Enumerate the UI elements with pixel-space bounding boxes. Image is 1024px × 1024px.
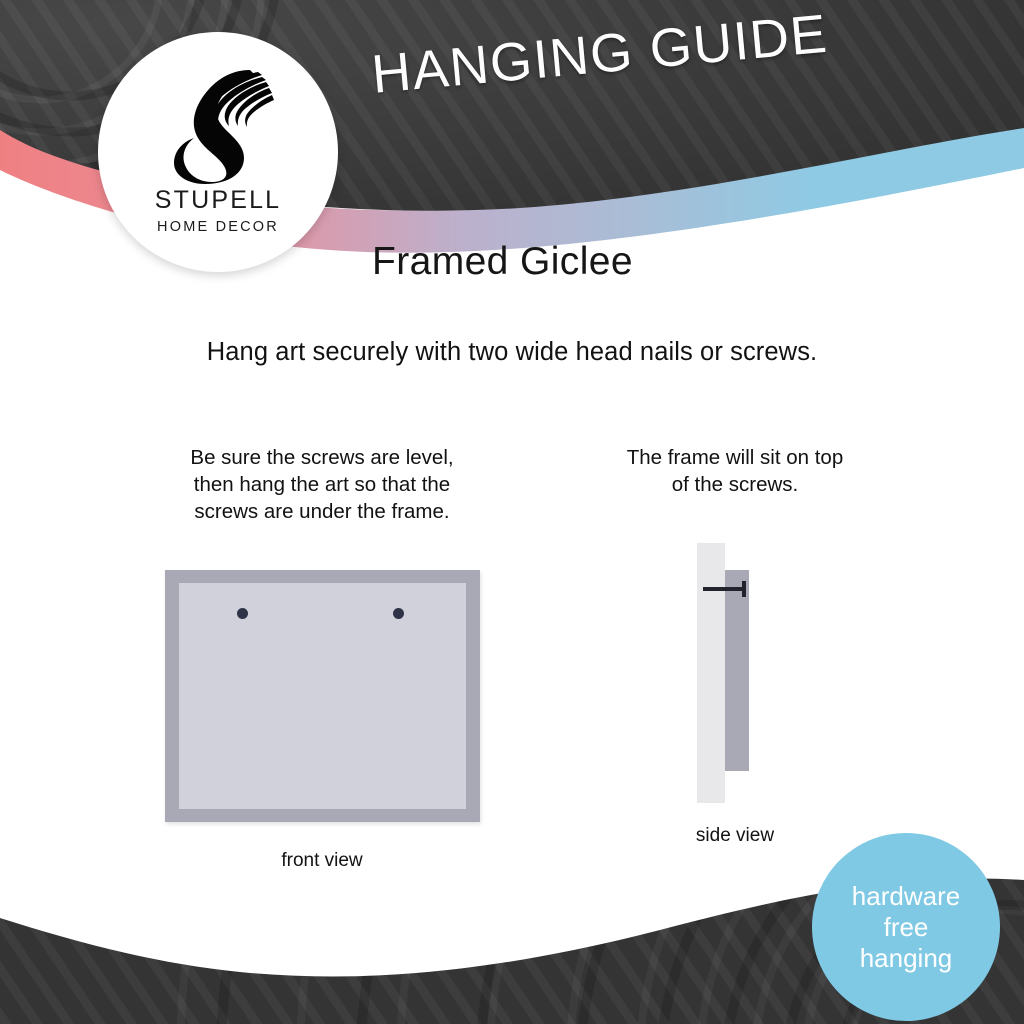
side-view-frame-diagram — [675, 543, 795, 803]
stupell-s-swoosh-logo-icon — [158, 56, 278, 184]
brand-tagline: HOME DECOR — [157, 220, 279, 235]
diagram-row: Be sure the screws are level, then hang … — [0, 444, 1024, 874]
brand-logo-badge: STUPELL HOME DECOR — [98, 32, 338, 272]
front-view-instruction-line: Be sure the screws are level, — [130, 444, 514, 471]
screw-head-icon — [742, 581, 746, 597]
screw-dot-left — [237, 608, 248, 619]
brand-name: STUPELL — [155, 188, 282, 213]
side-view-instruction-line: The frame will sit on top — [560, 444, 910, 471]
badge-line: hanging — [860, 943, 953, 974]
frame-mat-area — [179, 583, 466, 809]
product-type-label: Framed Giclee — [372, 240, 633, 284]
frame-edge-strip — [725, 570, 749, 771]
side-view-caption: side view — [560, 825, 910, 847]
screw-dot-right — [393, 608, 404, 619]
badge-line: hardware — [852, 881, 960, 912]
front-view-instruction: Be sure the screws are level, then hang … — [130, 444, 514, 525]
wall-strip — [697, 543, 725, 803]
side-view-panel: The frame will sit on top of the screws.… — [560, 444, 910, 847]
front-view-panel: Be sure the screws are level, then hang … — [130, 444, 514, 872]
lead-instruction-text: Hang art securely with two wide head nai… — [0, 338, 1024, 367]
side-view-instruction: The frame will sit on top of the screws. — [560, 444, 910, 498]
screw-shaft-icon — [703, 587, 746, 591]
front-view-caption: front view — [130, 850, 514, 872]
badge-line: free — [884, 912, 929, 943]
side-view-instruction-line: of the screws. — [560, 471, 910, 498]
hardware-free-hanging-badge: hardware free hanging — [812, 833, 1000, 1021]
hanging-guide-infographic: STUPELL HOME DECOR HANGING GUIDE Framed … — [0, 0, 1024, 1024]
page-title: HANGING GUIDE — [369, 3, 830, 106]
front-view-instruction-line: then hang the art so that the — [130, 471, 514, 498]
front-view-instruction-line: screws are under the frame. — [130, 498, 514, 525]
front-view-frame-diagram — [165, 570, 480, 822]
